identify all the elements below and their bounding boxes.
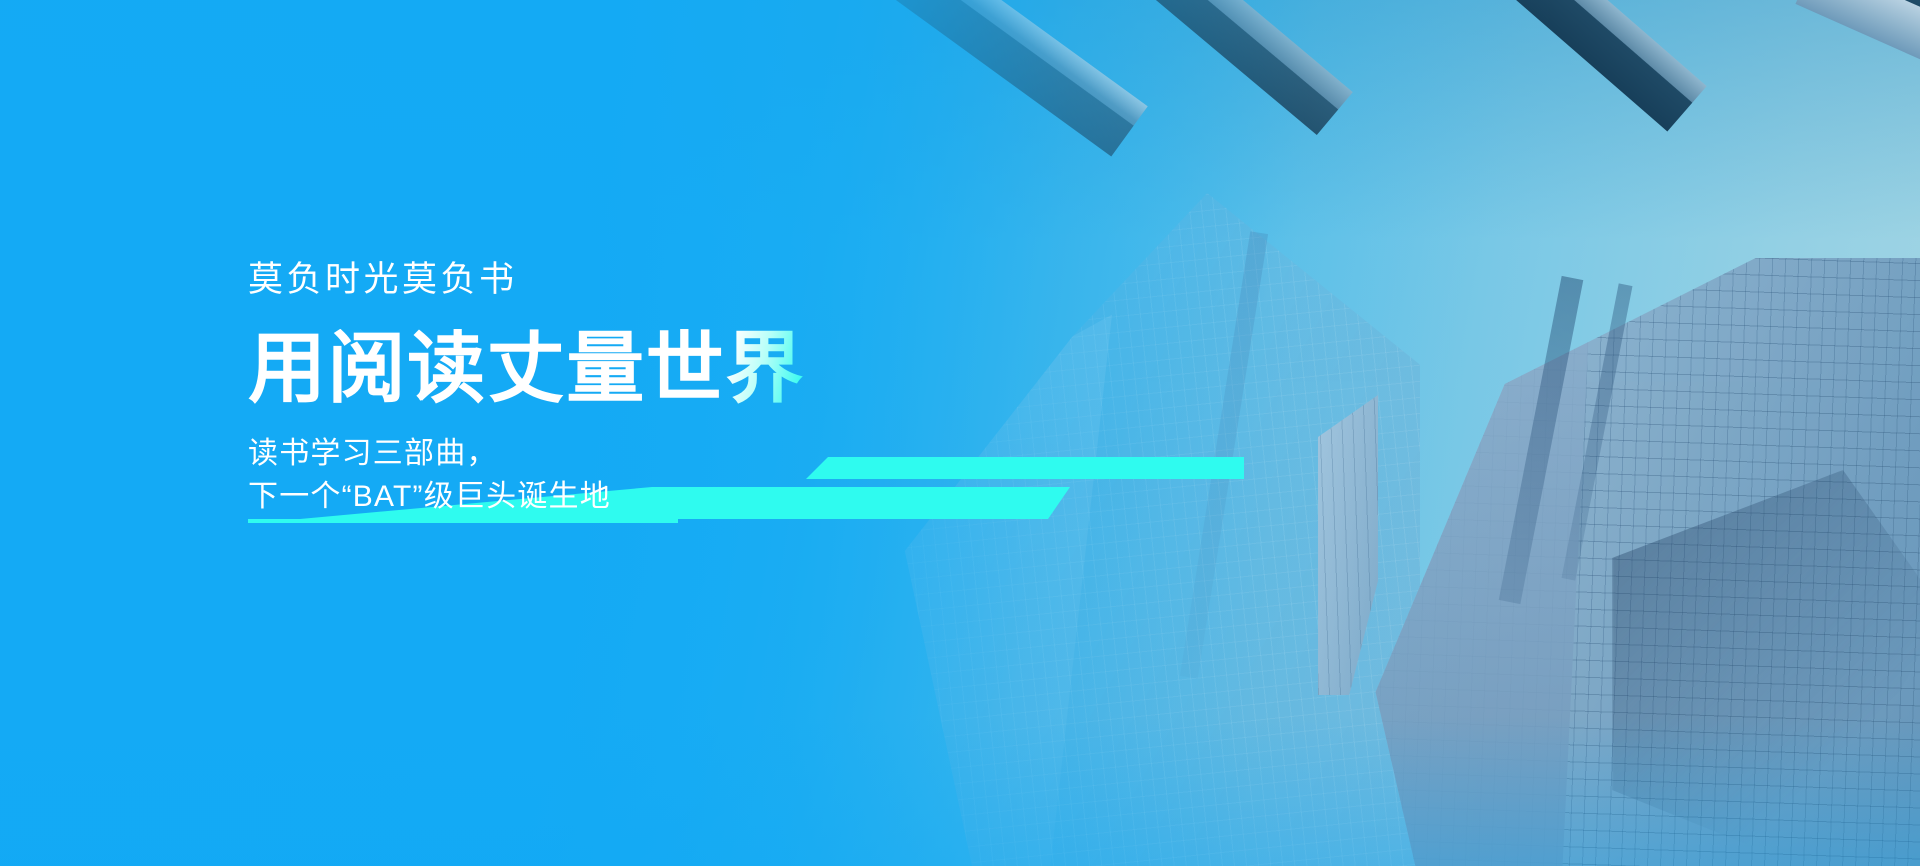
bottom-fade-overlay xyxy=(0,716,1920,866)
banner-subtitle-line-2: 下一个“BAT”级巨头诞生地 xyxy=(248,476,1148,519)
banner-eyebrow-text: 莫负时光莫负书 xyxy=(248,262,1148,297)
promo-banner: 莫负时光莫负书 用阅读丈量世界 读书学习三部曲， 下一个“BAT”级巨头诞生地 xyxy=(0,0,1920,866)
cyan-accent-rule xyxy=(248,519,678,523)
banner-subtitle-line-1: 读书学习三部曲， xyxy=(248,433,1148,476)
banner-subtitle: 读书学习三部曲， 下一个“BAT”级巨头诞生地 xyxy=(248,433,1148,518)
banner-copy-block: 莫负时光莫负书 用阅读丈量世界 读书学习三部曲， 下一个“BAT”级巨头诞生地 xyxy=(248,262,1148,518)
banner-headline: 用阅读丈量世界 xyxy=(248,329,1148,407)
